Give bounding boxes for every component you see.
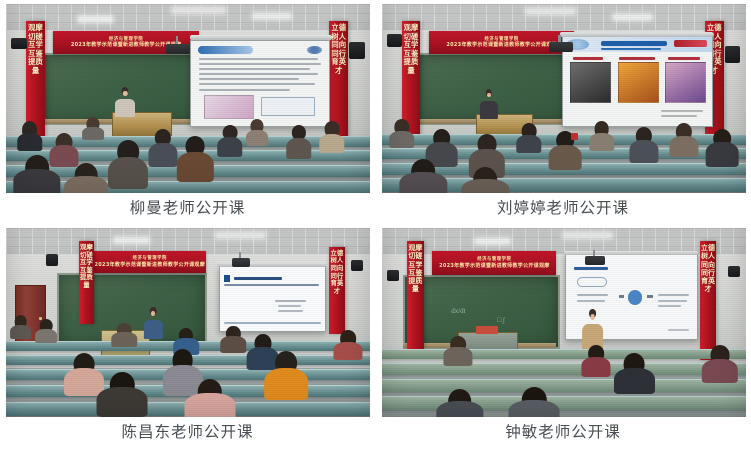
collage-page: 经济与管理学院 2023年教学示范课暨新进教师教学公开课观摩 观摩切磋互学互鉴提… [0,0,751,449]
teacher-figure [115,87,135,117]
photo-cell-4: dx/dt □ ∫ 经济与管理学院 2023年教学示范课暨新进教师教学公开课观摩… [375,224,751,449]
photo-cell-3: 经济与管理学院 2023年教学示范课暨新进教师教学公开课观摩 观摩切磋互学互鉴提… [0,224,375,449]
photo-grid: 经济与管理学院 2023年教学示范课暨新进教师教学公开课观摩 观摩切磋互学互鉴提… [0,0,751,449]
photo-cell-1: 经济与管理学院 2023年教学示范课暨新进教师教学公开课观摩 观摩切磋互学互鉴提… [0,0,375,224]
banner-vertical-left: 观摩切磋互学互鉴提质量 [407,241,424,349]
slide-image-2 [618,62,659,103]
projector-screen [562,36,713,127]
photo-caption-1: 柳曼老师公开课 [130,201,246,217]
teacher-figure [480,89,498,119]
slide-image-1 [570,62,611,103]
ceiling [382,4,746,32]
banner-vertical-left: 观摩切磋互学互鉴提质量 [79,241,94,324]
photo-caption-4: 钟敏老师公开课 [505,425,621,441]
banner-vertical-right: 立德树人同向同行育英才 [329,247,344,334]
banner-line-2: 2023年教学示范课暨新进教师教学公开课观摩 [71,42,182,48]
photo-3: 经济与管理学院 2023年教学示范课暨新进教师教学公开课观摩 观摩切磋互学互鉴提… [6,228,370,417]
photo-4: dx/dt □ ∫ 经济与管理学院 2023年教学示范课暨新进教师教学公开课观摩… [382,228,746,417]
banner-line-2: 2023年教学示范课暨新进教师教学公开课观摩 [439,263,550,269]
banner-line-2: 2023年教学示范课暨新进教师教学公开课观摩 [95,262,206,268]
photo-2: 经济与管理学院 2023年教学示范课暨新进教师教学公开课观摩 观摩切磋互学互鉴提… [382,4,746,193]
projector-screen [219,266,327,332]
slide-image-3 [665,62,706,103]
banner-horizontal: 经济与管理学院 2023年教学示范课暨新进教师教学公开课观摩 [432,251,556,276]
projector-screen [190,40,330,127]
ceiling [6,4,370,32]
photo-caption-2: 刘婷婷老师公开课 [497,201,629,217]
photo-caption-3: 陈昌东老师公开课 [121,425,253,441]
photo-1: 经济与管理学院 2023年教学示范课暨新进教师教学公开课观摩 观摩切磋互学互鉴提… [6,4,370,193]
teacher-figure [144,307,162,339]
photo-cell-2: 经济与管理学院 2023年教学示范课暨新进教师教学公开课观摩 观摩切磋互学互鉴提… [375,0,751,224]
banner-vertical-right: 立德树人同向同行育英才 [700,241,717,360]
banner-horizontal: 经济与管理学院 2023年教学示范课暨新进教师教学公开课观摩 [93,251,206,274]
banner-line-2: 2023年教学示范课暨新进教师教学公开课观摩 [446,42,557,48]
